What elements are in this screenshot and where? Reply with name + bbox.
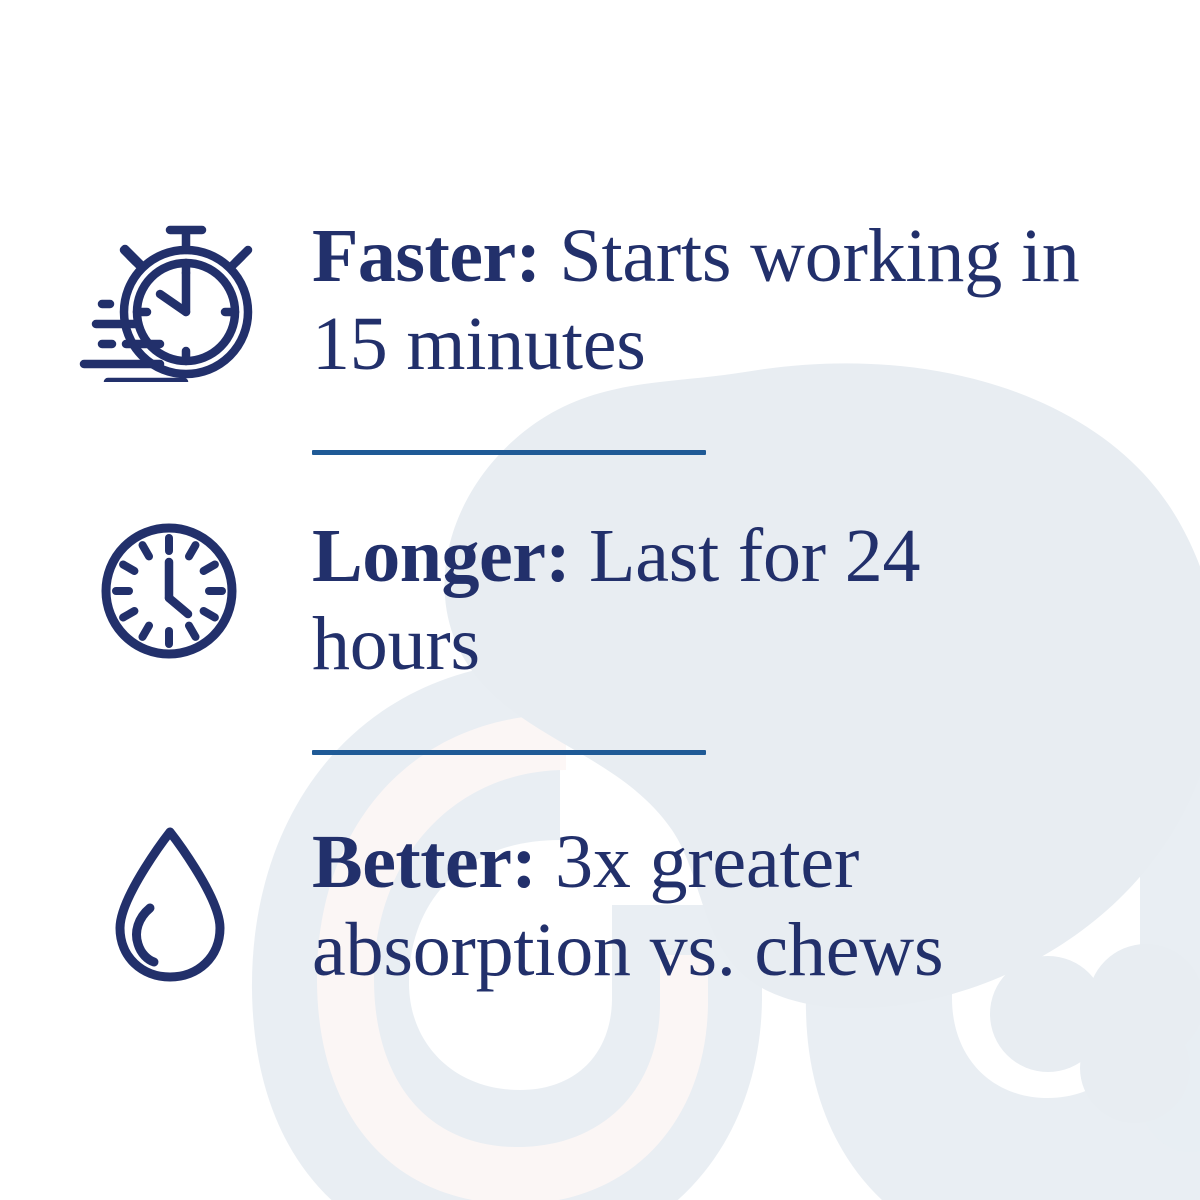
benefit-lede-faster: Faster: bbox=[312, 214, 541, 298]
benefit-text-faster: Faster: Starts working in 15 minutes bbox=[312, 212, 1142, 388]
stopwatch-icon bbox=[74, 216, 256, 382]
promo-benefits-graphic: Faster: Starts working in 15 minutes bbox=[0, 0, 1200, 1200]
benefit-text-better: Better: 3x greater absorption vs. chews bbox=[312, 818, 1112, 994]
benefit-lede-better: Better: bbox=[312, 820, 536, 904]
benefit-text-longer: Longer: Last for 24 hours bbox=[312, 512, 1012, 688]
divider-1 bbox=[312, 450, 706, 455]
divider-2 bbox=[312, 750, 706, 755]
benefit-lede-longer: Longer: bbox=[312, 514, 570, 598]
clock-icon bbox=[96, 518, 242, 664]
water-drop-icon bbox=[106, 824, 234, 984]
